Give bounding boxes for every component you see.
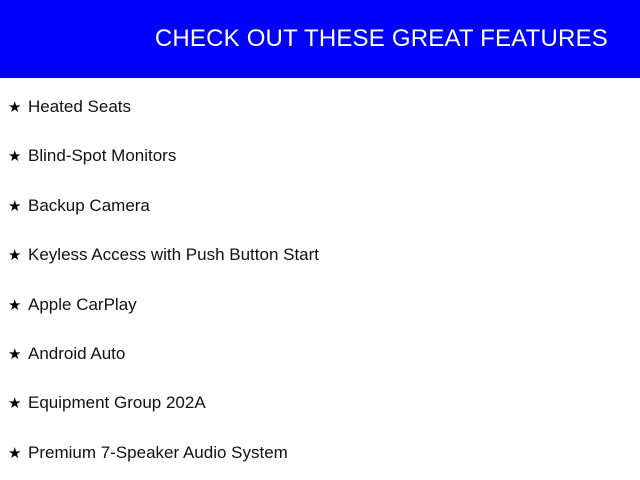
list-item: ★ Heated Seats	[0, 95, 640, 119]
star-bullet-icon: ★	[8, 396, 28, 411]
feature-label: Equipment Group 202A	[28, 394, 206, 413]
page-title: CHECK OUT THESE GREAT FEATURES	[155, 27, 608, 51]
header-banner: CHECK OUT THESE GREAT FEATURES	[0, 0, 640, 78]
list-item: ★ Keyless Access with Push Button Start	[0, 243, 640, 267]
feature-label: Apple CarPlay	[28, 296, 137, 315]
feature-label: Heated Seats	[28, 98, 131, 117]
list-item: ★ Premium 7-Speaker Audio System	[0, 441, 640, 465]
features-panel: CHECK OUT THESE GREAT FEATURES ★ Heated …	[0, 0, 640, 480]
feature-label: Premium 7-Speaker Audio System	[28, 444, 288, 463]
star-bullet-icon: ★	[8, 446, 28, 461]
feature-label: Blind-Spot Monitors	[28, 147, 176, 166]
features-list: ★ Heated Seats ★ Blind-Spot Monitors ★ B…	[0, 78, 640, 480]
feature-label: Backup Camera	[28, 197, 150, 216]
star-bullet-icon: ★	[8, 149, 28, 164]
list-item: ★ Backup Camera	[0, 194, 640, 218]
star-bullet-icon: ★	[8, 100, 28, 115]
feature-label: Keyless Access with Push Button Start	[28, 246, 319, 265]
list-item: ★ Android Auto	[0, 342, 640, 366]
feature-label: Android Auto	[28, 345, 125, 364]
list-item: ★ Apple CarPlay	[0, 293, 640, 317]
star-bullet-icon: ★	[8, 248, 28, 263]
list-item: ★ Blind-Spot Monitors	[0, 144, 640, 168]
star-bullet-icon: ★	[8, 298, 28, 313]
star-bullet-icon: ★	[8, 199, 28, 214]
list-item: ★ Equipment Group 202A	[0, 391, 640, 415]
star-bullet-icon: ★	[8, 347, 28, 362]
